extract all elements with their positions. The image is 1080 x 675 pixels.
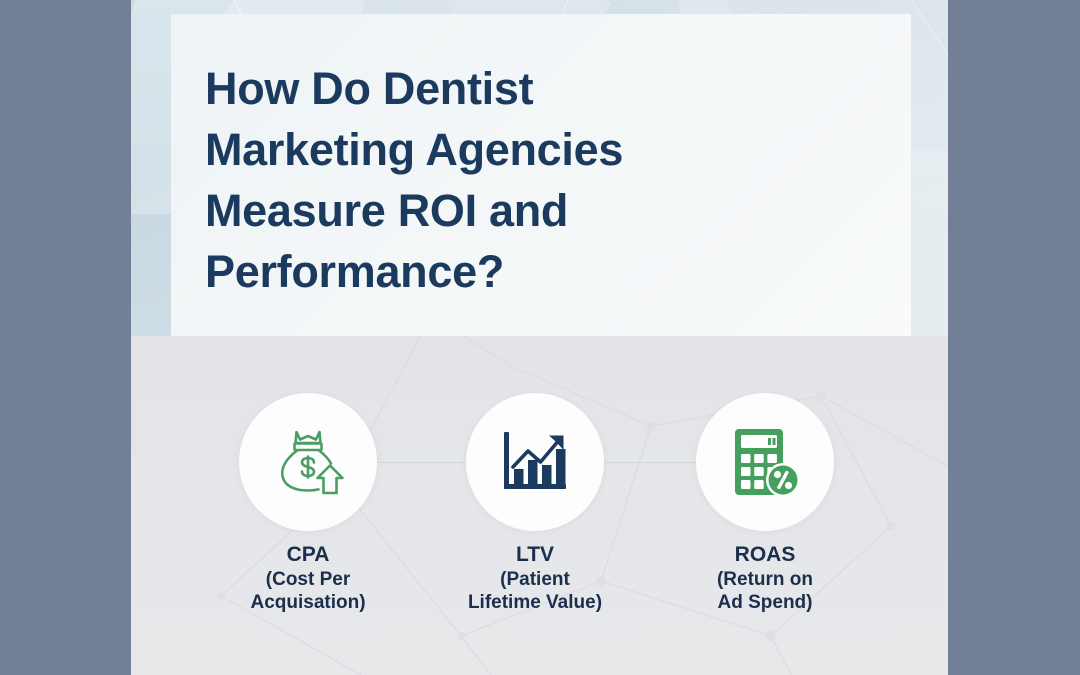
metric-card-roas[interactable]: ROAS (Return on Ad Spend) xyxy=(670,393,860,614)
metric-icon-circle-ltv xyxy=(466,393,604,531)
metric-abbr-roas: ROAS xyxy=(670,543,860,567)
calculator-percent-icon xyxy=(727,424,803,500)
page-title: How Do Dentist Marketing Agencies Measur… xyxy=(205,58,855,302)
metric-cards: CPA (Cost Per Acquisation) xyxy=(131,336,948,675)
metrics-section: CPA (Cost Per Acquisation) xyxy=(131,336,948,675)
metric-icon-circle-roas xyxy=(696,393,834,531)
title-card: How Do Dentist Marketing Agencies Measur… xyxy=(171,14,911,336)
metric-icon-circle-cpa xyxy=(239,393,377,531)
metric-abbr-ltv: LTV xyxy=(440,543,630,567)
money-bag-arrow-icon xyxy=(270,424,346,500)
metric-card-ltv[interactable]: LTV (Patient Lifetime Value) xyxy=(440,393,630,614)
left-frame-border xyxy=(0,0,131,675)
metric-expansion-ltv: (Patient Lifetime Value) xyxy=(440,568,630,614)
metric-card-cpa[interactable]: CPA (Cost Per Acquisation) xyxy=(213,393,403,614)
infographic-stage: How Do Dentist Marketing Agencies Measur… xyxy=(0,0,1080,675)
metric-expansion-cpa: (Cost Per Acquisation) xyxy=(213,568,403,614)
content-column: How Do Dentist Marketing Agencies Measur… xyxy=(131,0,948,675)
header-band: How Do Dentist Marketing Agencies Measur… xyxy=(131,0,948,336)
right-frame-border xyxy=(948,0,1080,675)
metric-expansion-roas: (Return on Ad Spend) xyxy=(670,568,860,614)
bar-chart-growth-icon xyxy=(497,424,573,500)
metric-abbr-cpa: CPA xyxy=(213,543,403,567)
